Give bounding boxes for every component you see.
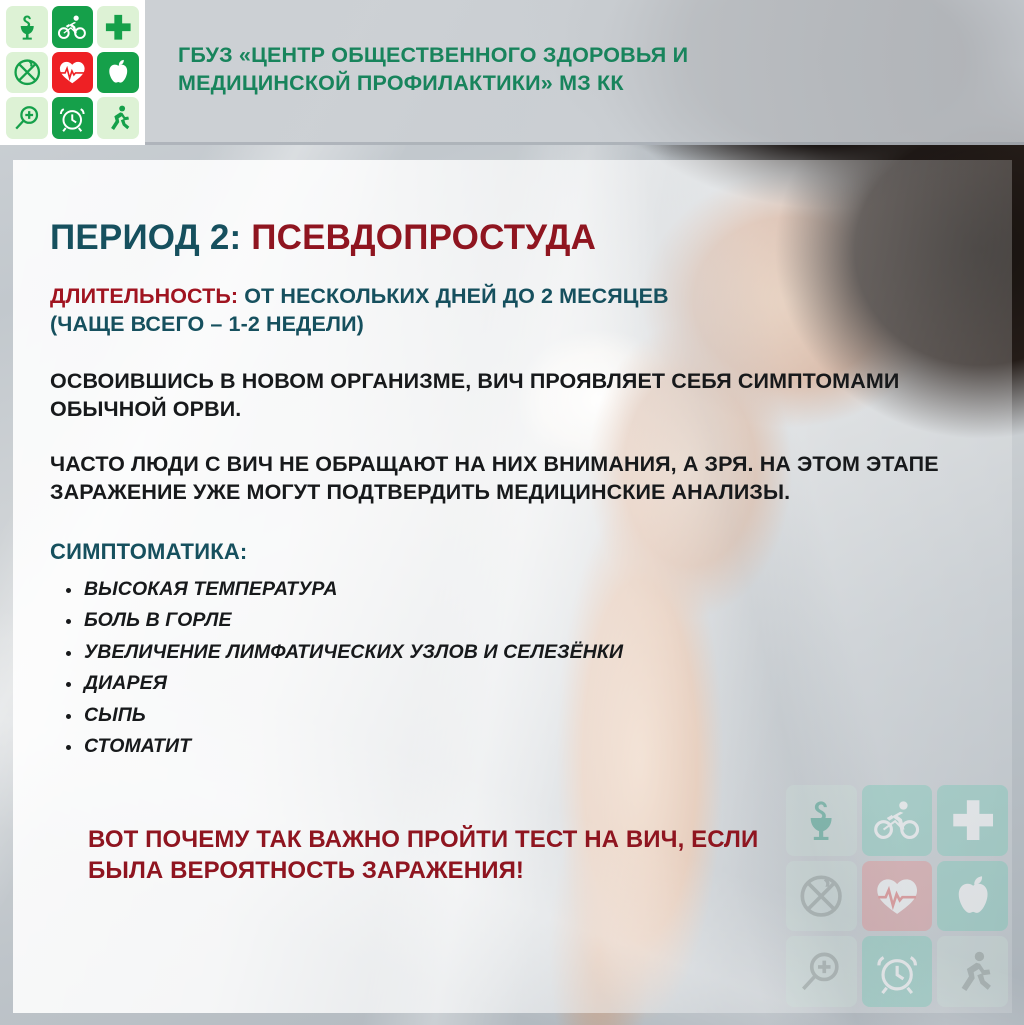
page-title: ПЕРИОД 2: ПСЕВДОПРОСТУДА (50, 218, 950, 257)
duration-value-line1: ОТ НЕСКОЛЬКИХ ДНЕЙ ДО 2 МЕСЯЦЕВ (244, 284, 668, 308)
page-title-prefix: ПЕРИОД 2: (50, 218, 241, 257)
paragraph-two: ЧАСТО ЛЮДИ С ВИЧ НЕ ОБРАЩАЮТ НА НИХ ВНИМ… (50, 450, 950, 507)
list-item: СЫПЬ (64, 700, 950, 732)
organization-title-line1: ГБУЗ «ЦЕНТР ОБЩЕСТВЕННОГО ЗДОРОВЬЯ И (178, 42, 968, 70)
organization-logo (0, 0, 145, 145)
page-title-highlight: ПСЕВДОПРОСТУДА (251, 218, 596, 257)
call-to-action-line1: ВОТ ПОЧЕМУ ТАК ВАЖНО ПРОЙТИ ТЕСТ НА ВИЧ,… (88, 825, 950, 856)
organization-title: ГБУЗ «ЦЕНТР ОБЩЕСТВЕННОГО ЗДОРОВЬЯ И МЕД… (178, 42, 968, 98)
alarm-clock-icon (52, 97, 94, 139)
infographic-poster: ГБУЗ «ЦЕНТР ОБЩЕСТВЕННОГО ЗДОРОВЬЯ И МЕД… (0, 0, 1024, 1025)
main-content: ПЕРИОД 2: ПСЕВДОПРОСТУДА ДЛИТЕЛЬНОСТЬ: О… (50, 218, 950, 886)
list-item: БОЛЬ В ГОРЛЕ (64, 605, 950, 637)
running-person-icon (97, 97, 139, 139)
symptoms-heading: СИМПТОМАТИКА: (50, 539, 950, 565)
paragraph-one: ОСВОИВШИСЬ В НОВОМ ОРГАНИЗМЕ, ВИЧ ПРОЯВЛ… (50, 367, 950, 424)
bowl-of-hygieia-icon (6, 6, 48, 48)
heart-ecg-icon (52, 52, 94, 94)
duration-label: ДЛИТЕЛЬНОСТЬ: (50, 284, 238, 308)
apple-icon (97, 52, 139, 94)
call-to-action-line2: БЫЛА ВЕРОЯТНОСТЬ ЗАРАЖЕНИЯ! (88, 856, 950, 887)
list-item: ВЫСОКАЯ ТЕМПЕРАТУРА (64, 574, 950, 606)
call-to-action: ВОТ ПОЧЕМУ ТАК ВАЖНО ПРОЙТИ ТЕСТ НА ВИЧ,… (88, 825, 950, 886)
no-smoking-icon (6, 52, 48, 94)
list-item: ДИАРЕЯ (64, 668, 950, 700)
organization-title-line2: МЕДИЦИНСКОЙ ПРОФИЛАКТИКИ» МЗ КК (178, 70, 968, 98)
duration-value-line2: (ЧАЩЕ ВСЕГО – 1-2 НЕДЕЛИ) (50, 312, 364, 336)
list-item: СТОМАТИТ (64, 731, 950, 763)
medical-cross-icon (97, 6, 139, 48)
magnifier-plus-icon (6, 97, 48, 139)
list-item: УВЕЛИЧЕНИЕ ЛИМФАТИЧЕСКИХ УЗЛОВ И СЕЛЕЗЁН… (64, 637, 950, 669)
duration-block: ДЛИТЕЛЬНОСТЬ: ОТ НЕСКОЛЬКИХ ДНЕЙ ДО 2 МЕ… (50, 283, 950, 339)
symptoms-list: ВЫСОКАЯ ТЕМПЕРАТУРА БОЛЬ В ГОРЛЕ УВЕЛИЧЕ… (64, 574, 950, 763)
cyclist-icon (52, 6, 94, 48)
